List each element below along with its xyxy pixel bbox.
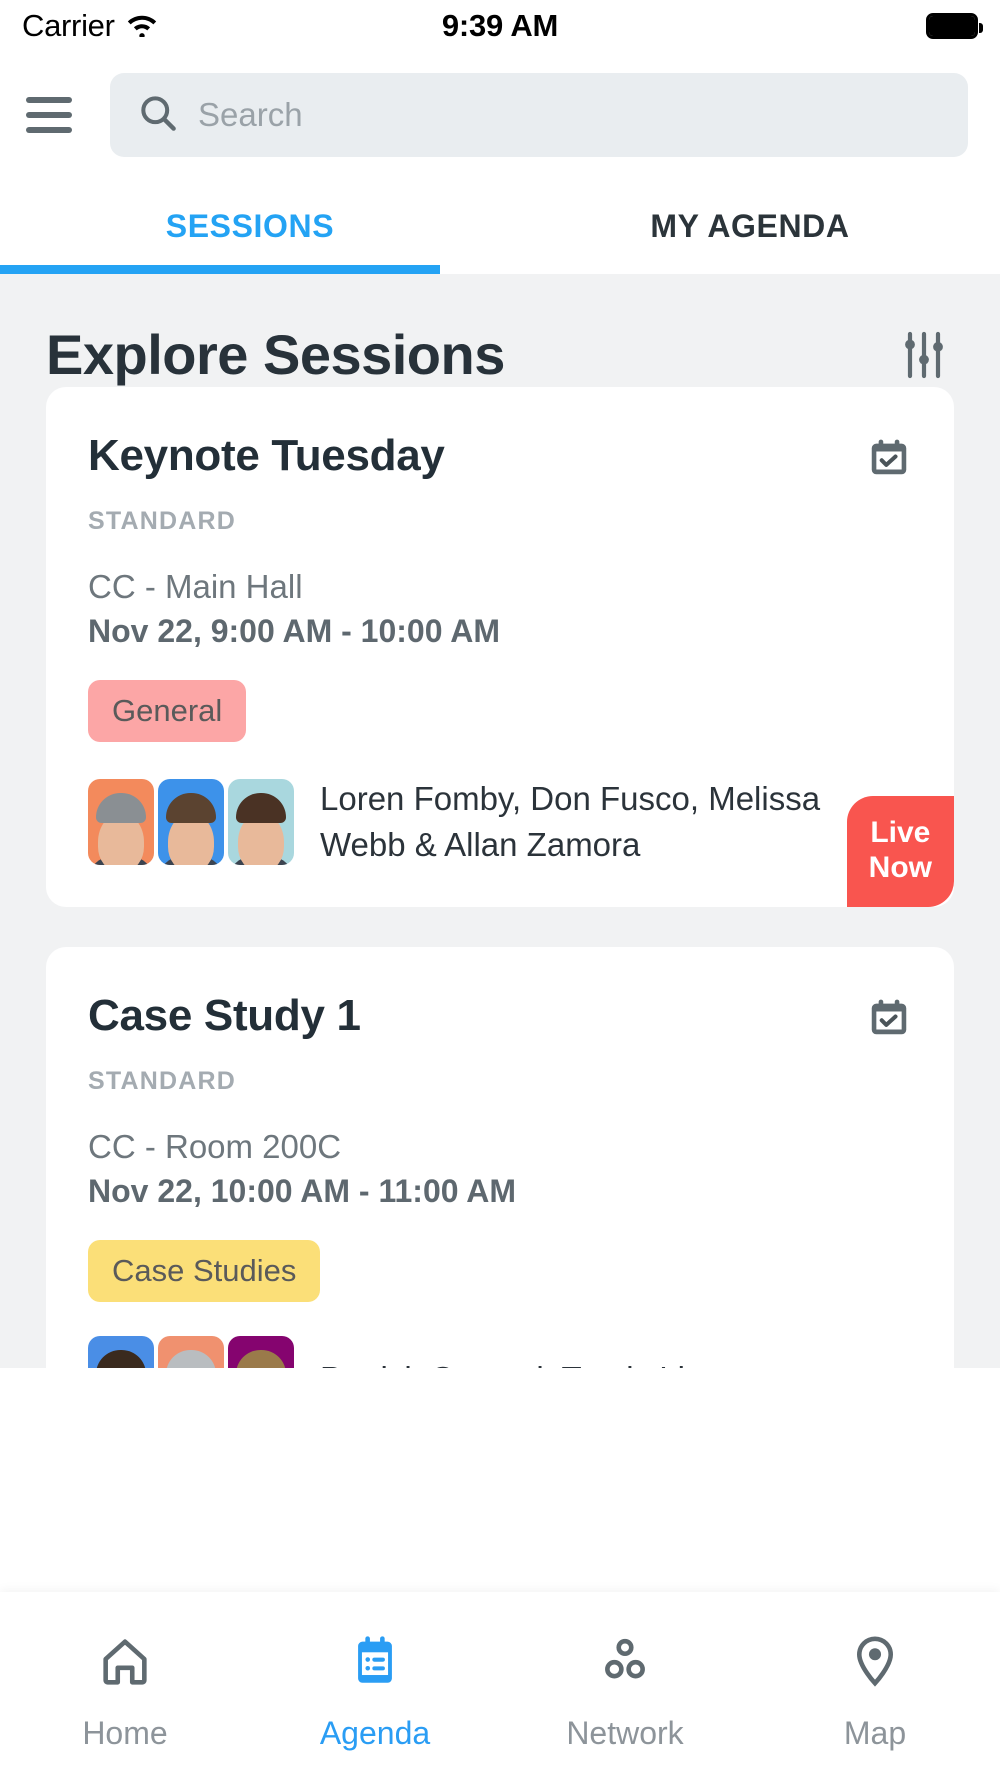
avatar-hair	[236, 793, 286, 823]
bottom-navigation: Home Agenda	[0, 1592, 1000, 1778]
nav-item-agenda[interactable]: Agenda	[250, 1632, 500, 1752]
status-bar-time: 9:39 AM	[0, 8, 1000, 44]
tab-bar: SESSIONS MY AGENDA	[0, 178, 1000, 274]
nav-item-network[interactable]: Network	[500, 1632, 750, 1752]
session-speakers-row: Patrick Coward, Travis Lipton,	[88, 1336, 912, 1368]
status-bar-right	[926, 13, 978, 39]
calendar-check-icon[interactable]	[866, 995, 912, 1041]
session-room: CC - Room 200C	[88, 1128, 912, 1166]
session-time: Nov 22, 10:00 AM - 11:00 AM	[88, 1173, 912, 1210]
sessions-list-panel[interactable]: Explore Sessions Keynote Tuesday	[0, 274, 1000, 1368]
speaker-avatar[interactable]	[228, 779, 294, 865]
filter-sliders-icon[interactable]	[896, 327, 952, 383]
home-icon	[96, 1632, 154, 1695]
app-screen: Carrier 9:39 AM Search SESSIONS MY AGEND…	[0, 0, 1000, 1778]
map-pin-icon	[846, 1632, 904, 1695]
session-title: Keynote Tuesday	[88, 431, 445, 481]
tab-active-indicator	[0, 265, 440, 274]
live-badge-line2: Now	[869, 851, 932, 886]
battery-full-icon	[926, 13, 978, 39]
calendar-check-icon[interactable]	[866, 435, 912, 481]
page-title: Explore Sessions	[46, 322, 505, 387]
session-time: Nov 22, 9:00 AM - 10:00 AM	[88, 613, 912, 650]
live-now-badge: Live Now	[847, 796, 954, 907]
session-kind: STANDARD	[88, 1067, 912, 1096]
nav-label-network: Network	[566, 1715, 683, 1752]
search-input[interactable]: Search	[110, 73, 968, 157]
session-tag[interactable]: General	[88, 680, 246, 742]
nav-item-home[interactable]: Home	[0, 1632, 250, 1752]
nav-label-map: Map	[844, 1715, 906, 1752]
avatar-hair	[96, 793, 146, 823]
session-speaker-names: Patrick Coward, Travis Lipton,	[320, 1356, 758, 1368]
nav-label-home: Home	[82, 1715, 167, 1752]
session-tag[interactable]: Case Studies	[88, 1240, 320, 1302]
session-card-header: Keynote Tuesday	[88, 431, 912, 481]
nav-item-map[interactable]: Map	[750, 1632, 1000, 1752]
hamburger-menu-icon[interactable]	[26, 92, 72, 138]
avatar-hair	[236, 1350, 286, 1368]
avatar-hair	[96, 1350, 146, 1368]
status-bar: Carrier 9:39 AM	[0, 0, 1000, 52]
session-card[interactable]: Case Study 1 STANDARD CC - Room 200C Nov…	[46, 947, 954, 1368]
search-icon	[136, 91, 180, 140]
search-placeholder: Search	[198, 96, 303, 134]
session-speaker-names: Loren Fomby, Don Fusco, Melissa Webb & A…	[320, 776, 912, 867]
speaker-avatar-group[interactable]	[88, 779, 298, 865]
session-speakers-row: Loren Fomby, Don Fusco, Melissa Webb & A…	[88, 776, 912, 867]
tab-sessions[interactable]: SESSIONS	[0, 178, 500, 274]
nav-label-agenda: Agenda	[320, 1715, 430, 1752]
speaker-avatar[interactable]	[158, 1336, 224, 1368]
calendar-agenda-icon	[346, 1632, 404, 1695]
session-room: CC - Main Hall	[88, 568, 912, 606]
speaker-avatar[interactable]	[228, 1336, 294, 1368]
session-title: Case Study 1	[88, 991, 361, 1041]
speaker-avatar[interactable]	[88, 1336, 154, 1368]
session-card[interactable]: Keynote Tuesday STANDARD CC - Main Hall …	[46, 387, 954, 907]
section-header: Explore Sessions	[0, 274, 1000, 387]
network-people-icon	[596, 1632, 654, 1695]
session-kind: STANDARD	[88, 507, 912, 536]
tab-my-agenda[interactable]: MY AGENDA	[500, 178, 1000, 274]
speaker-avatar-group[interactable]	[88, 1336, 298, 1368]
avatar-hair	[166, 1350, 216, 1368]
speaker-avatar[interactable]	[88, 779, 154, 865]
avatar-hair	[166, 793, 216, 823]
speaker-avatar[interactable]	[158, 779, 224, 865]
live-badge-line1: Live	[869, 816, 932, 851]
session-card-header: Case Study 1	[88, 991, 912, 1041]
top-bar: Search	[0, 52, 1000, 178]
